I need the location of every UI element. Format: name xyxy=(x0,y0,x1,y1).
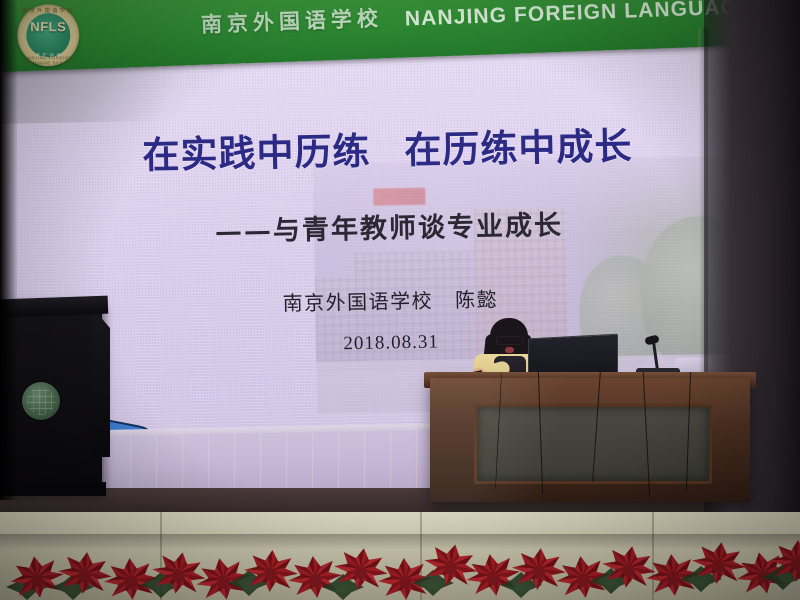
slide-title-part-1: 在实践中历练 xyxy=(142,130,371,177)
globe-emblem-icon xyxy=(22,382,60,420)
slide-title-part-2: 在历练中成长 xyxy=(404,125,633,172)
lectern-slope xyxy=(92,307,110,457)
glasses-icon xyxy=(496,336,524,345)
logo-acronym: NFLS xyxy=(17,19,79,34)
podium-sheen xyxy=(430,378,750,502)
red-poinsettia-row xyxy=(0,540,800,600)
school-logo-icon: 南京外国语学校 NFLS 求 实 创 新 NANJING FOREIGN LAN… xyxy=(17,4,79,66)
title-gap xyxy=(371,163,405,164)
slide-affiliation: 南京外国语学校 xyxy=(282,289,433,316)
slide-presenter: 陈懿 xyxy=(455,287,498,312)
mouth xyxy=(505,347,514,353)
left-hall-shadow xyxy=(0,0,18,500)
auditorium-scene: .cn 在实践中历练在历练中成长 ——与青年教师谈专业成长 南京外国语学校陈懿 … xyxy=(0,0,800,600)
logo-ring-english: NANJING FOREIGN LANGUAGE SCHOOL xyxy=(17,55,79,65)
banner-chinese-name: 南京外国语学校 xyxy=(200,2,383,38)
red-flag xyxy=(373,188,425,206)
